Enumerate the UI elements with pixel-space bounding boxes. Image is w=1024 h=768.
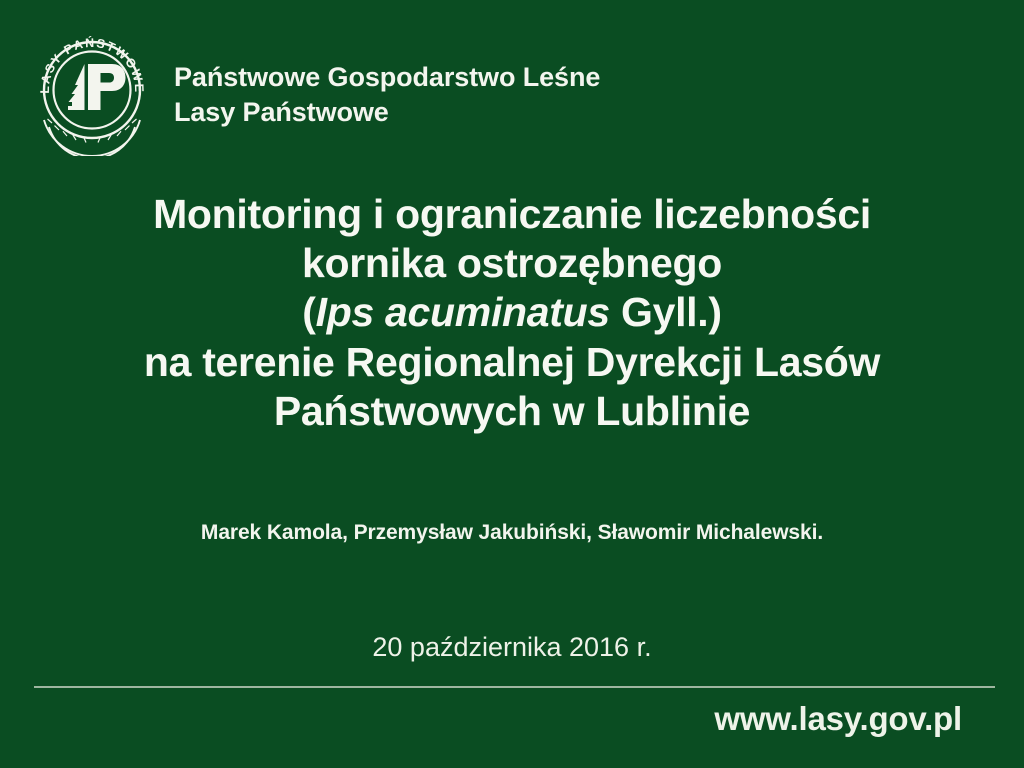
title-line-4: na terenie Regionalnej Dyrekcji Lasów <box>60 338 964 387</box>
brand-header: LASY PAŃSTWOWE <box>28 28 600 156</box>
title-line-2: kornika ostrozębnego <box>60 239 964 288</box>
species-paren-open: ( <box>302 289 315 335</box>
lasy-panstwowe-emblem-icon: LASY PAŃSTWOWE <box>28 28 156 156</box>
brand-line-1: Państwowe Gospodarstwo Leśne <box>174 60 600 95</box>
author-list: Marek Kamola, Przemysław Jakubiński, Sła… <box>0 521 1024 545</box>
footer-website-url: www.lasy.gov.pl <box>714 700 962 738</box>
title-line-3-species: (Ips acuminatus Gyll.) <box>60 288 964 337</box>
species-authority: Gyll.) <box>610 289 722 335</box>
slide-title: Monitoring i ograniczanie liczebności ko… <box>0 190 1024 436</box>
presentation-slide: LASY PAŃSTWOWE <box>0 0 1024 768</box>
species-binomial: Ips acuminatus <box>316 289 610 335</box>
brand-wordmark: Państwowe Gospodarstwo Leśne Lasy Państw… <box>174 54 600 129</box>
brand-line-2: Lasy Państwowe <box>174 95 600 130</box>
footer-divider <box>34 686 995 688</box>
presentation-date: 20 października 2016 r. <box>0 632 1024 663</box>
title-line-1: Monitoring i ograniczanie liczebności <box>60 190 964 239</box>
title-line-5: Państwowych w Lublinie <box>60 387 964 436</box>
